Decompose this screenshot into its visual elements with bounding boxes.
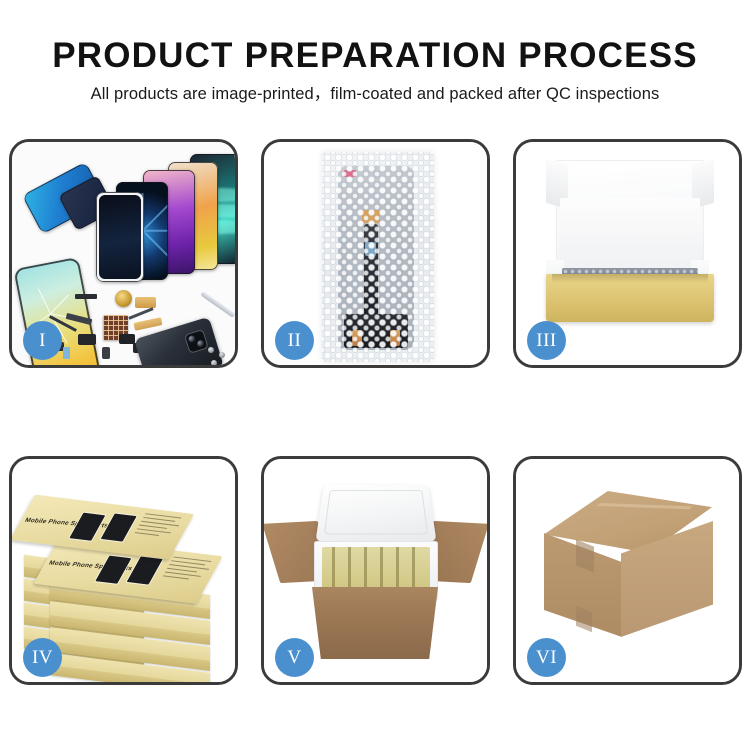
step-panel-4[interactable]: Mobile Phone Spare Parts Mobile Phone Sp…: [9, 456, 238, 685]
part-module-1: [78, 334, 96, 345]
part-module-2: [119, 334, 135, 344]
step-badge-6: VI: [527, 638, 566, 677]
page-title: PRODUCT PREPARATION PROCESS: [0, 34, 750, 78]
bubble-wrap-bag: [322, 152, 434, 362]
process-steps-grid: I II: [9, 139, 741, 685]
styrofoam-lid: [315, 485, 436, 542]
part-speaker-bar: [75, 294, 97, 299]
part-screws: [208, 347, 234, 365]
part-gold-coil: [115, 290, 132, 307]
part-tweezers-tool: [200, 291, 235, 318]
step-badge-1: I: [23, 321, 62, 360]
step-badge-4: IV: [23, 638, 62, 677]
part-flex-cable-a: [135, 297, 156, 308]
foam-sheet: [560, 198, 700, 270]
printed-box-lid: Mobile Phone Spare Parts: [12, 495, 194, 560]
step-badge-5: V: [275, 638, 314, 677]
box-spec-text: [130, 513, 189, 547]
part-module-3: [102, 347, 110, 359]
bubble-texture-offset: [322, 152, 434, 362]
step-badge-2: II: [275, 321, 314, 360]
yellow-tray-base: [546, 274, 714, 322]
part-sim-tray: [63, 347, 70, 359]
part-flex-cable-b: [133, 317, 162, 331]
phone-white-frame: [96, 192, 144, 282]
step-panel-3[interactable]: III: [513, 139, 742, 368]
step-panel-6[interactable]: VI: [513, 456, 742, 685]
header: PRODUCT PREPARATION PROCESS All products…: [0, 34, 750, 106]
page-subtitle: All products are image-printed，film-coat…: [0, 82, 750, 106]
step-panel-2[interactable]: II: [261, 139, 490, 368]
step-panel-5[interactable]: V: [261, 456, 490, 685]
part-cable-2: [128, 307, 153, 320]
step-panel-1[interactable]: I: [9, 139, 238, 368]
carton-body: [312, 587, 438, 659]
box-spec-text: [158, 556, 217, 590]
step-badge-3: III: [527, 321, 566, 360]
